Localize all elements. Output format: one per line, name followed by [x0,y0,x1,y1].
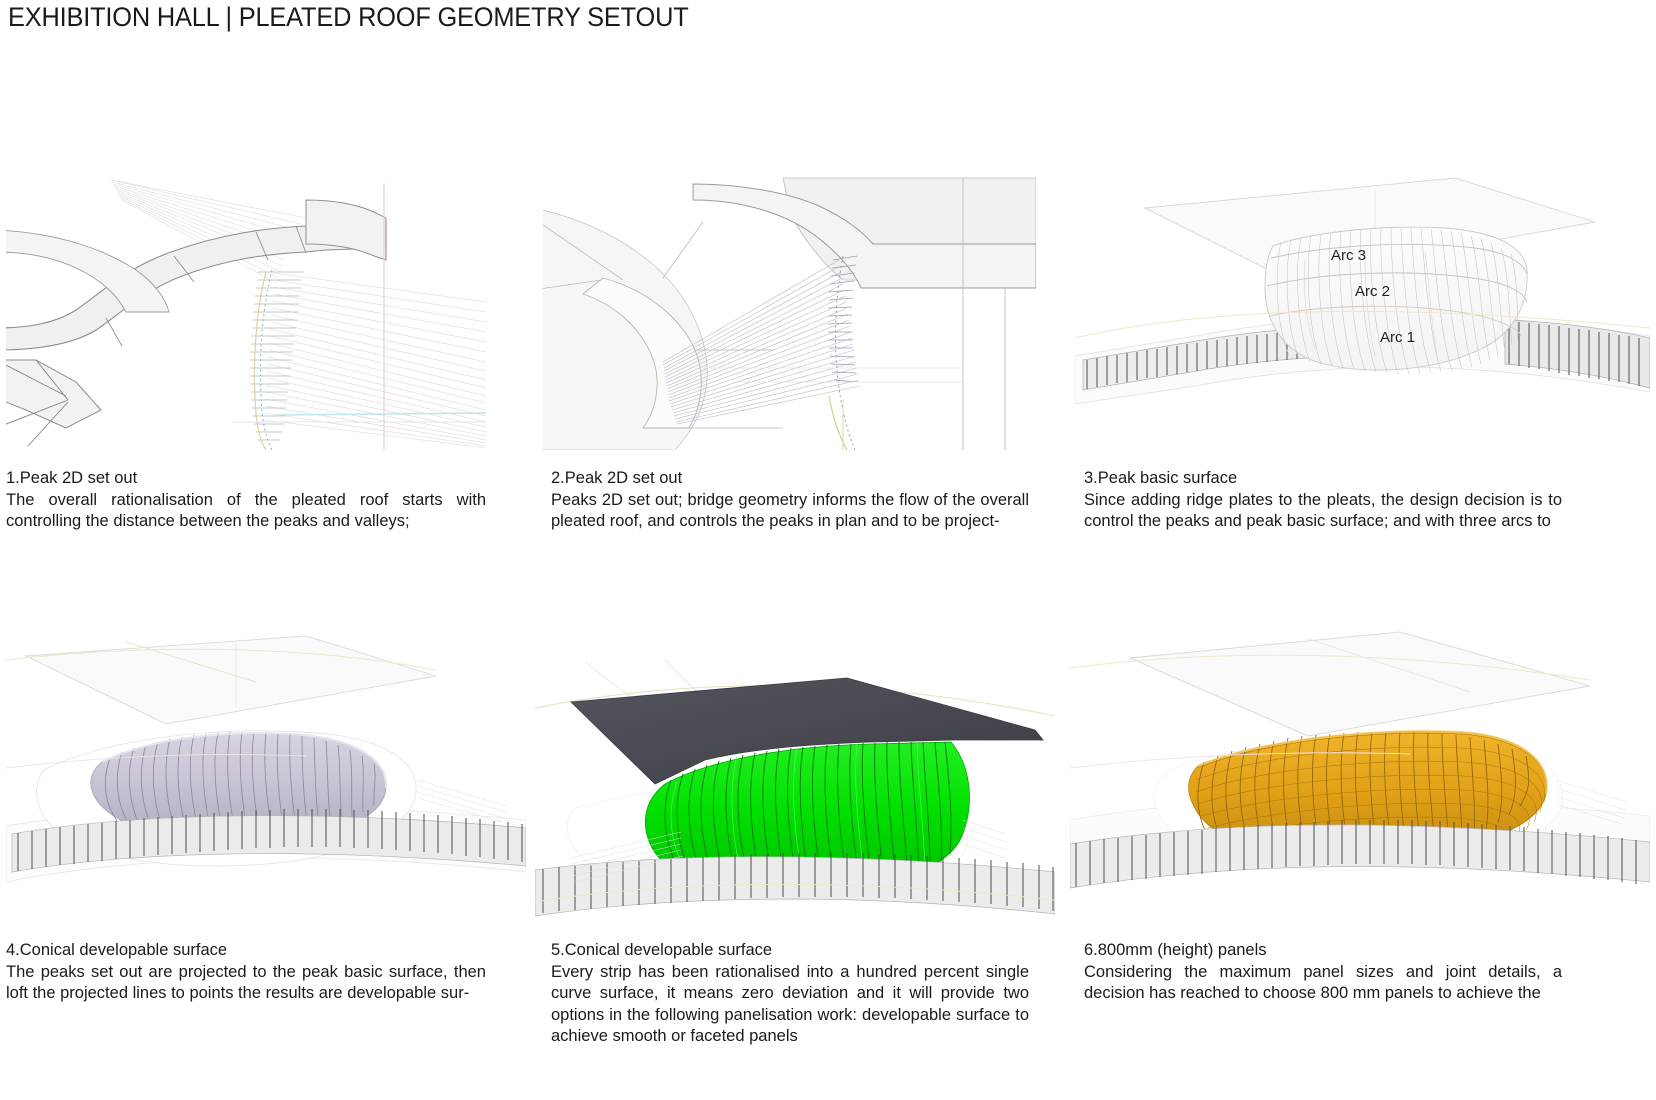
caption-block-6: 6.800mm (height) panels Considering the … [1084,940,1562,1005]
cad-plan-drawing-2 [543,160,1036,450]
viewport-peak-2d-setout-detail[interactable] [543,160,1036,450]
arc-label-2: Arc 2 [1355,283,1390,300]
render-conical-green [535,620,1055,920]
caption-title-2: 2.Peak 2D set out [551,468,1029,490]
viewport-peak-basic-surface[interactable]: Arc 3 Arc 2 Arc 1 [1075,160,1650,450]
render-conical-lavender [6,620,526,920]
arc-label-1: Arc 1 [1380,329,1415,346]
caption-block-1: 1.Peak 2D set out The overall rationalis… [6,468,486,533]
viewport-conical-developable-green[interactable] [535,620,1055,920]
caption-body-6: Considering the maximum panel sizes and … [1084,962,1562,1005]
caption-title-4: 4.Conical developable surface [6,940,486,962]
caption-body-3: Since adding ridge plates to the pleats,… [1084,490,1562,533]
caption-title-3: 3.Peak basic surface [1084,468,1562,490]
page-title: EXHIBITION HALL | PLEATED ROOF GEOMETRY … [8,2,689,33]
viewport-conical-developable-lavender[interactable] [6,620,526,920]
caption-body-1: The overall rationalisation of the pleat… [6,490,486,533]
viewport-peak-2d-setout-plan[interactable] [6,160,486,450]
caption-block-4: 4.Conical developable surface The peaks … [6,940,486,1005]
viewport-800mm-panels[interactable] [1070,620,1650,920]
caption-title-6: 6.800mm (height) panels [1084,940,1562,962]
caption-block-5: 5.Conical developable surface Every stri… [551,940,1029,1048]
render-gold-panels [1070,620,1650,920]
caption-body-4: The peaks set out are projected to the p… [6,962,486,1005]
caption-body-2: Peaks 2D set out; bridge geometry inform… [551,490,1029,533]
cad-plan-drawing-1 [6,160,486,450]
presentation-board: EXHIBITION HALL | PLEATED ROOF GEOMETRY … [0,0,1656,1100]
caption-block-2: 2.Peak 2D set out Peaks 2D set out; brid… [551,468,1029,533]
render-peak-basic-surface: Arc 3 Arc 2 Arc 1 [1075,160,1650,450]
caption-title-1: 1.Peak 2D set out [6,468,486,490]
caption-block-3: 3.Peak basic surface Since adding ridge … [1084,468,1562,533]
arc-label-3: Arc 3 [1331,247,1366,264]
caption-body-5: Every strip has been rationalised into a… [551,962,1029,1048]
caption-title-5: 5.Conical developable surface [551,940,1029,962]
